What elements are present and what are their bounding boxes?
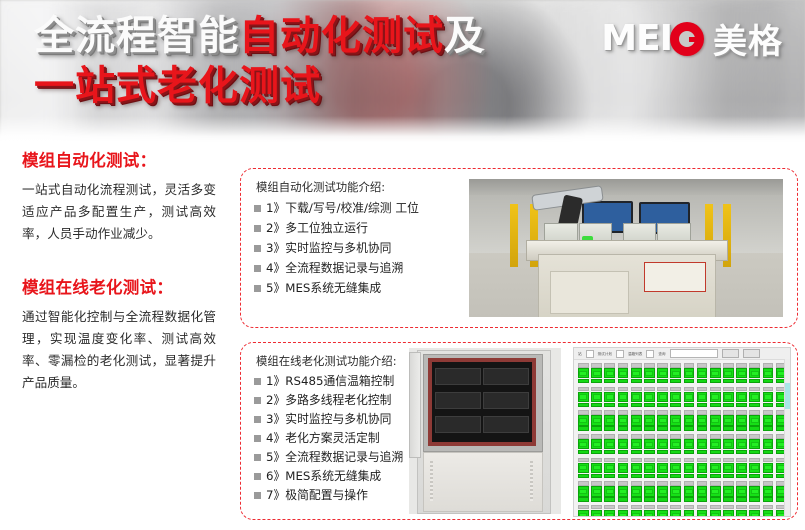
monitor-station-cell[interactable]	[710, 481, 721, 501]
monitor-station-cell[interactable]	[578, 434, 589, 454]
cell-footer-bar	[763, 403, 774, 407]
monitor-station-cell[interactable]	[631, 387, 642, 407]
cell-footer-bar	[604, 450, 615, 454]
chamber-shelf	[483, 368, 529, 385]
monitor-search-input[interactable]	[670, 349, 718, 358]
monitor-station-cell[interactable]	[591, 434, 602, 454]
cell-footer-bar	[631, 450, 642, 454]
cell-status-indicator	[591, 415, 602, 425]
monitor-station-cell[interactable]	[578, 410, 589, 430]
cell-header-bar	[591, 481, 602, 486]
cell-footer-bar	[697, 474, 708, 478]
monitor-station-cell[interactable]	[618, 434, 629, 454]
cell-footer-bar	[657, 497, 668, 501]
card-automation-test: 模组自动化测试功能介绍: 1》下载/写号/校准/综测 工位 2》多工位独立运行 …	[240, 168, 798, 328]
cell-status-indicator	[684, 368, 695, 378]
monitor-station-cell[interactable]	[604, 481, 615, 501]
cell-header-bar	[644, 481, 655, 486]
cell-header-bar	[697, 481, 708, 486]
bullet-square-icon	[254, 378, 261, 385]
cell-footer-bar	[736, 379, 747, 383]
cell-status-indicator	[618, 392, 629, 402]
cell-status-indicator	[631, 486, 642, 496]
monitor-station-cell[interactable]	[604, 363, 615, 383]
list-item: 2》多路多线程老化控制	[254, 391, 403, 410]
monitor-station-cell[interactable]	[749, 387, 760, 407]
monitor-station-cell[interactable]	[763, 458, 774, 478]
monitor-station-cell[interactable]	[697, 363, 708, 383]
monitor-station-cell[interactable]	[697, 481, 708, 501]
cell-header-bar	[644, 505, 655, 510]
cell-status-indicator	[723, 439, 734, 449]
cell-header-bar	[578, 505, 589, 510]
monitor-station-cell[interactable]	[618, 387, 629, 407]
cell-header-bar	[657, 505, 668, 510]
cell-footer-bar	[670, 403, 681, 407]
monitor-station-cell[interactable]	[631, 458, 642, 478]
monitor-station-cell[interactable]	[723, 481, 734, 501]
monitor-station-cell[interactable]	[631, 481, 642, 501]
cell-footer-bar	[644, 379, 655, 383]
section-aging-test: 模组在线老化测试： 通过智能化控制与全流程数据化管理，实现温度变化率、测试高效率…	[0, 277, 232, 394]
cell-footer-bar	[631, 426, 642, 430]
cell-footer-bar	[684, 497, 695, 501]
cell-footer-bar	[763, 379, 774, 383]
bullet-square-icon	[254, 454, 261, 461]
cell-footer-bar	[710, 474, 721, 478]
cell-status-indicator	[604, 463, 615, 473]
cell-footer-bar	[631, 497, 642, 501]
monitor-station-cell[interactable]	[644, 363, 655, 383]
monitor-status-grid[interactable]	[574, 360, 790, 517]
monitor-station-cell[interactable]	[578, 481, 589, 501]
list-item-label: 7》极简配置与操作	[266, 486, 368, 505]
list-item-label: 1》下载/写号/校准/综测 工位	[266, 198, 419, 218]
cell-status-indicator	[631, 439, 642, 449]
card-aging-test: 模组在线老化测试功能介绍: 1》RS485通信温箱控制 2》多路多线程老化控制 …	[240, 342, 798, 520]
automation-feature-list: 模组自动化测试功能介绍: 1》下载/写号/校准/综测 工位 2》多工位独立运行 …	[254, 178, 419, 298]
monitor-station-cell[interactable]	[657, 458, 668, 478]
monitor-station-cell[interactable]	[763, 505, 774, 517]
cell-status-indicator	[657, 392, 668, 402]
cell-header-bar	[736, 481, 747, 486]
bullet-square-icon	[254, 492, 261, 499]
cell-header-bar	[723, 481, 734, 486]
monitor-scrollbar-thumb[interactable]	[785, 383, 790, 409]
monitor-station-cell[interactable]	[710, 363, 721, 383]
monitor-station-cell[interactable]	[657, 434, 668, 454]
cell-status-indicator	[723, 510, 734, 517]
monitor-station-cell[interactable]	[578, 363, 589, 383]
bullet-square-icon	[254, 416, 261, 423]
left-description-column: 模组自动化测试： 一站式自动化流程测试，灵活多变适应产品多配置生产，测试高效率，…	[0, 150, 232, 394]
monitor-station-cell[interactable]	[618, 505, 629, 517]
cell-footer-bar	[591, 403, 602, 407]
cell-footer-bar	[710, 497, 721, 501]
cell-footer-bar	[697, 403, 708, 407]
bullet-square-icon	[254, 245, 261, 252]
cell-header-bar	[631, 363, 642, 368]
cell-header-bar	[749, 363, 760, 368]
cell-footer-bar	[644, 426, 655, 430]
monitor-station-cell[interactable]	[736, 434, 747, 454]
cell-status-indicator	[657, 415, 668, 425]
cell-status-indicator	[684, 463, 695, 473]
monitor-station-cell[interactable]	[631, 505, 642, 517]
cell-header-bar	[604, 434, 615, 439]
monitor-station-cell[interactable]	[723, 505, 734, 517]
cell-header-bar	[736, 434, 747, 439]
monitor-station-cell[interactable]	[736, 363, 747, 383]
monitor-station-cell[interactable]	[644, 410, 655, 430]
monitor-station-cell[interactable]	[644, 458, 655, 478]
monitor-station-cell[interactable]	[697, 458, 708, 478]
monitor-station-cell[interactable]	[604, 434, 615, 454]
monitor-station-cell[interactable]	[697, 410, 708, 430]
cell-header-bar	[723, 505, 734, 510]
monitor-station-cell[interactable]	[657, 505, 668, 517]
logo-wordmark: MEI	[601, 18, 704, 59]
monitor-station-cell[interactable]	[657, 363, 668, 383]
cell-header-bar	[749, 434, 760, 439]
cell-status-indicator	[697, 368, 708, 378]
monitor-station-cell[interactable]	[644, 434, 655, 454]
monitor-station-cell[interactable]	[684, 458, 695, 478]
cell-status-indicator	[644, 392, 655, 402]
cell-header-bar	[657, 363, 668, 368]
cell-status-indicator	[697, 510, 708, 517]
cell-footer-bar	[684, 379, 695, 383]
monitor-station-cell[interactable]	[684, 481, 695, 501]
monitor-export-button[interactable]	[743, 349, 760, 358]
cell-header-bar	[591, 387, 602, 392]
monitor-station-cell[interactable]	[697, 387, 708, 407]
cell-status-indicator	[684, 392, 695, 402]
cell-status-indicator	[631, 463, 642, 473]
monitor-station-cell[interactable]	[578, 387, 589, 407]
cell-status-indicator	[657, 463, 668, 473]
cell-footer-bar	[631, 474, 642, 478]
monitor-station-cell[interactable]	[763, 481, 774, 501]
cell-footer-bar	[710, 426, 721, 430]
cell-footer-bar	[736, 403, 747, 407]
cell-status-indicator	[736, 510, 747, 517]
monitor-station-cell[interactable]	[591, 363, 602, 383]
cell-status-indicator	[684, 415, 695, 425]
list-item: 5》MES系统无缝集成	[254, 278, 419, 298]
cell-footer-bar	[723, 379, 734, 383]
title-text-white-1: 全流程智能	[34, 13, 239, 59]
cell-header-bar	[763, 481, 774, 486]
cell-footer-bar	[697, 450, 708, 454]
cell-header-bar	[684, 505, 695, 510]
cell-footer-bar	[763, 450, 774, 454]
cell-footer-bar	[697, 497, 708, 501]
monitor-station-cell[interactable]	[684, 434, 695, 454]
list-item: 7》极简配置与操作	[254, 486, 403, 505]
cell-status-indicator	[749, 415, 760, 425]
cell-header-bar	[670, 505, 681, 510]
cell-header-bar	[578, 387, 589, 392]
cell-status-indicator	[631, 392, 642, 402]
monitor-station-cell[interactable]	[631, 410, 642, 430]
monitor-station-cell[interactable]	[604, 410, 615, 430]
cell-footer-bar	[736, 497, 747, 501]
banner-bottom-fade	[0, 116, 805, 142]
monitor-station-cell[interactable]	[749, 410, 760, 430]
cell-status-indicator	[697, 463, 708, 473]
monitor-grid-row	[578, 434, 787, 454]
cell-status-indicator	[763, 486, 774, 496]
cell-footer-bar	[763, 426, 774, 430]
monitor-station-cell[interactable]	[578, 505, 589, 517]
cell-footer-bar	[657, 403, 668, 407]
cell-header-bar	[657, 481, 668, 486]
monitor-toolbar[interactable]: 站 测试计划 温箱列表 查询	[574, 348, 790, 360]
monitor-station-cell[interactable]	[749, 481, 760, 501]
monitor-select-station[interactable]	[586, 350, 594, 358]
cell-footer-bar	[736, 450, 747, 454]
cell-status-indicator	[591, 392, 602, 402]
monitor-station-cell[interactable]	[723, 458, 734, 478]
cell-footer-bar	[644, 474, 655, 478]
cell-status-indicator	[618, 439, 629, 449]
cell-status-indicator	[578, 392, 589, 402]
aging-monitor-screen[interactable]: 站 测试计划 温箱列表 查询	[573, 347, 791, 517]
monitor-station-cell[interactable]	[618, 481, 629, 501]
monitor-station-cell[interactable]	[604, 458, 615, 478]
cell-footer-bar	[670, 426, 681, 430]
cell-footer-bar	[763, 497, 774, 501]
cell-footer-bar	[604, 379, 615, 383]
monitor-station-cell[interactable]	[670, 505, 681, 517]
monitor-station-cell[interactable]	[749, 505, 760, 517]
cell-footer-bar	[591, 379, 602, 383]
cell-footer-bar	[749, 426, 760, 430]
monitor-station-cell[interactable]	[736, 505, 747, 517]
cell-footer-bar	[697, 379, 708, 383]
cell-footer-bar	[604, 403, 615, 407]
cell-footer-bar	[749, 497, 760, 501]
cell-footer-bar	[578, 450, 589, 454]
cell-status-indicator	[591, 368, 602, 378]
cell-status-indicator	[578, 368, 589, 378]
monitor-station-cell[interactable]	[736, 458, 747, 478]
monitor-station-cell[interactable]	[618, 458, 629, 478]
list-item: 1》RS485通信温箱控制	[254, 372, 403, 391]
monitor-station-cell[interactable]	[736, 481, 747, 501]
monitor-station-cell[interactable]	[657, 410, 668, 430]
monitor-station-cell[interactable]	[710, 410, 721, 430]
cell-header-bar	[631, 458, 642, 463]
monitor-station-cell[interactable]	[749, 434, 760, 454]
cell-header-bar	[710, 387, 721, 392]
monitor-station-cell[interactable]	[591, 458, 602, 478]
cell-header-bar	[631, 387, 642, 392]
logo-chinese-name: 美格	[713, 14, 783, 63]
monitor-station-cell[interactable]	[763, 387, 774, 407]
monitor-station-cell[interactable]	[670, 458, 681, 478]
cell-header-bar	[736, 505, 747, 510]
cell-status-indicator	[644, 486, 655, 496]
monitor-station-cell[interactable]	[736, 387, 747, 407]
cell-footer-bar	[723, 426, 734, 430]
cell-header-bar	[657, 458, 668, 463]
monitor-station-cell[interactable]	[644, 481, 655, 501]
cell-status-indicator	[749, 439, 760, 449]
monitor-station-cell[interactable]	[723, 434, 734, 454]
cell-status-indicator	[763, 463, 774, 473]
cell-footer-bar	[684, 450, 695, 454]
monitor-station-cell[interactable]	[670, 363, 681, 383]
monitor-station-cell[interactable]	[684, 410, 695, 430]
cell-status-indicator	[578, 439, 589, 449]
monitor-station-cell[interactable]	[749, 363, 760, 383]
cell-footer-bar	[710, 450, 721, 454]
monitor-station-cell[interactable]	[697, 505, 708, 517]
aging-chamber-photo	[409, 348, 561, 514]
cell-status-indicator	[657, 510, 668, 517]
cell-header-bar	[631, 434, 642, 439]
monitor-station-cell[interactable]	[657, 387, 668, 407]
monitor-station-cell[interactable]	[684, 387, 695, 407]
section-aging-body: 通过智能化控制与全流程数据化管理，实现温度变化率、测试高效率、零漏检的老化测试，…	[22, 306, 216, 394]
monitor-station-cell[interactable]	[657, 481, 668, 501]
list-item-label: 6》MES系统无缝集成	[266, 467, 381, 486]
cell-status-indicator	[710, 439, 721, 449]
cell-status-indicator	[684, 486, 695, 496]
section-aging-title: 模组在线老化测试：	[22, 277, 216, 299]
monitor-station-cell[interactable]	[578, 458, 589, 478]
monitor-station-cell[interactable]	[763, 363, 774, 383]
monitor-checkbox-chamber[interactable]	[646, 350, 654, 358]
monitor-station-cell[interactable]	[684, 363, 695, 383]
cell-header-bar	[644, 458, 655, 463]
cell-header-bar	[710, 410, 721, 415]
cell-footer-bar	[618, 379, 629, 383]
monitor-station-cell[interactable]	[710, 434, 721, 454]
list-item: 1》下载/写号/校准/综测 工位	[254, 198, 419, 218]
cell-header-bar	[618, 458, 629, 463]
bullet-square-icon	[254, 265, 261, 272]
monitor-station-cell[interactable]	[591, 387, 602, 407]
cell-footer-bar	[749, 379, 760, 383]
cell-header-bar	[657, 434, 668, 439]
cell-status-indicator	[736, 415, 747, 425]
monitor-station-cell[interactable]	[618, 363, 629, 383]
cell-status-indicator	[604, 486, 615, 496]
monitor-station-cell[interactable]	[749, 458, 760, 478]
cell-status-indicator	[604, 415, 615, 425]
monitor-station-cell[interactable]	[618, 410, 629, 430]
chamber-vent	[530, 461, 533, 501]
monitor-station-cell[interactable]	[670, 434, 681, 454]
cell-header-bar	[591, 505, 602, 510]
chamber-shelf	[435, 416, 481, 433]
monitor-station-cell[interactable]	[723, 363, 734, 383]
hero-banner: 全流程智能自动化测试及 一站式老化测试 MEI 美格	[0, 0, 805, 142]
cell-footer-bar	[618, 426, 629, 430]
monitor-grid-row	[578, 410, 787, 430]
monitor-station-cell[interactable]	[684, 505, 695, 517]
cell-header-bar	[723, 363, 734, 368]
cell-footer-bar	[578, 426, 589, 430]
monitor-station-cell[interactable]	[763, 410, 774, 430]
cell-header-bar	[736, 387, 747, 392]
cell-header-bar	[604, 387, 615, 392]
cell-footer-bar	[618, 450, 629, 454]
monitor-station-cell[interactable]	[710, 458, 721, 478]
cell-header-bar	[684, 481, 695, 486]
cell-status-indicator	[618, 415, 629, 425]
cell-status-indicator	[591, 463, 602, 473]
cell-header-bar	[710, 363, 721, 368]
monitor-station-cell[interactable]	[670, 481, 681, 501]
cell-footer-bar	[723, 403, 734, 407]
chamber-shelf	[483, 416, 529, 433]
cell-header-bar	[697, 505, 708, 510]
cell-status-indicator	[749, 368, 760, 378]
monitor-query-button[interactable]	[722, 349, 739, 358]
cell-footer-bar	[657, 474, 668, 478]
monitor-station-cell[interactable]	[644, 505, 655, 517]
monitor-station-cell[interactable]	[670, 387, 681, 407]
cell-status-indicator	[670, 415, 681, 425]
meig-logo: MEI 美格	[601, 14, 783, 63]
cell-footer-bar	[591, 426, 602, 430]
monitor-station-cell[interactable]	[697, 434, 708, 454]
monitor-station-cell[interactable]	[670, 410, 681, 430]
cell-header-bar	[578, 363, 589, 368]
monitor-station-cell[interactable]	[710, 387, 721, 407]
cell-status-indicator	[618, 463, 629, 473]
monitor-station-cell[interactable]	[604, 505, 615, 517]
monitor-station-cell[interactable]	[763, 434, 774, 454]
cell-header-bar	[618, 481, 629, 486]
monitor-scrollbar[interactable]	[784, 359, 790, 516]
cell-status-indicator	[763, 415, 774, 425]
monitor-station-cell[interactable]	[736, 410, 747, 430]
cell-status-indicator	[618, 368, 629, 378]
monitor-station-cell[interactable]	[591, 410, 602, 430]
monitor-station-cell[interactable]	[723, 410, 734, 430]
cell-header-bar	[763, 505, 774, 510]
cell-header-bar	[657, 387, 668, 392]
monitor-station-cell[interactable]	[710, 505, 721, 517]
cell-status-indicator	[710, 510, 721, 517]
monitor-station-cell[interactable]	[591, 505, 602, 517]
monitor-station-cell[interactable]	[631, 363, 642, 383]
cell-footer-bar	[591, 474, 602, 478]
monitor-station-cell[interactable]	[604, 387, 615, 407]
cell-status-indicator	[736, 392, 747, 402]
monitor-station-cell[interactable]	[591, 481, 602, 501]
cell-footer-bar	[644, 497, 655, 501]
list-item: 2》多工位独立运行	[254, 218, 419, 238]
monitor-grid-row	[578, 387, 787, 407]
monitor-select-plan[interactable]	[616, 350, 624, 358]
monitor-station-cell[interactable]	[723, 387, 734, 407]
cell-footer-bar	[723, 450, 734, 454]
cell-status-indicator	[697, 392, 708, 402]
cell-status-indicator	[710, 392, 721, 402]
cell-status-indicator	[657, 486, 668, 496]
cell-header-bar	[710, 434, 721, 439]
monitor-grid-row	[578, 481, 787, 501]
monitor-station-cell[interactable]	[631, 434, 642, 454]
monitor-station-cell[interactable]	[644, 387, 655, 407]
poster-page: 全流程智能自动化测试及 一站式老化测试 MEI 美格 模组自动化测试： 一站式自…	[0, 0, 805, 530]
